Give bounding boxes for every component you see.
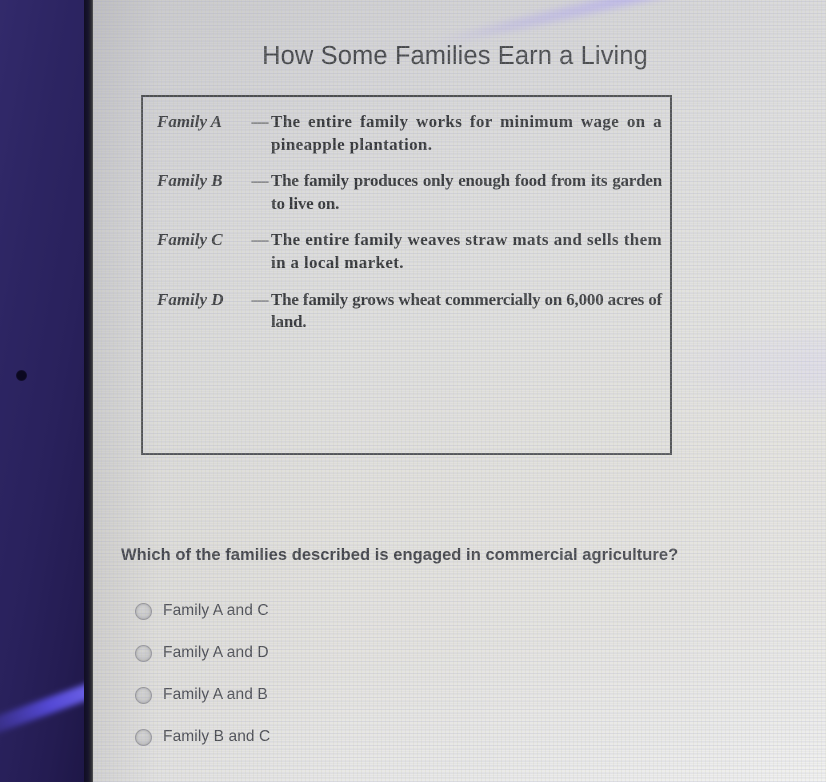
list-item: Family C — The entire family weaves stra… [157,229,662,274]
answer-choice-2[interactable]: Family A and D [135,632,555,674]
radio-button-icon[interactable] [135,729,152,746]
answer-choice-label: Family B and C [163,728,270,746]
em-dash-separator: — [249,289,271,312]
family-list: Family A — The entire family works for m… [157,111,662,334]
question-prompt: Which of the families described is engag… [121,546,811,565]
radio-button-icon[interactable] [135,687,152,704]
em-dash-separator: — [249,229,271,252]
stimulus-box: Family A — The entire family works for m… [141,95,672,455]
photographed-screen: How Some Families Earn a Living Family A… [0,0,826,782]
answer-choice-label: Family A and C [163,602,269,620]
list-item: Family D — The family grows wheat commer… [157,289,662,334]
answer-choice-label: Family A and B [163,686,268,704]
stimulus-title: How Some Families Earn a Living [175,42,735,71]
em-dash-separator: — [249,170,271,193]
family-description: The family grows wheat commercially on 6… [271,289,662,334]
answer-choice-3[interactable]: Family A and B [135,674,555,716]
family-label: Family B [157,170,249,193]
radio-button-icon[interactable] [135,645,152,662]
family-label: Family D [157,289,249,312]
em-dash-separator: — [249,111,271,134]
radio-button-icon[interactable] [135,603,152,620]
list-item: Family A — The entire family works for m… [157,111,662,156]
family-description: The entire family weaves straw mats and … [271,229,662,274]
family-label: Family A [157,111,249,134]
bezel-inner-edge [84,0,93,782]
quiz-content: How Some Families Earn a Living Family A… [93,0,826,782]
family-description: The family produces only enough food fro… [271,170,662,215]
answer-choice-group[interactable]: Family A and C Family A and D Family A a… [135,590,555,758]
family-description: The entire family works for minimum wage… [271,111,662,156]
answer-choice-label: Family A and D [163,644,269,662]
family-label: Family C [157,229,249,252]
device-bezel [0,0,84,782]
answer-choice-1[interactable]: Family A and C [135,590,555,632]
bezel-sensor-dot [16,370,27,381]
answer-choice-4[interactable]: Family B and C [135,716,555,758]
list-item: Family B — The family produces only enou… [157,170,662,215]
screen-surface: How Some Families Earn a Living Family A… [93,0,826,782]
